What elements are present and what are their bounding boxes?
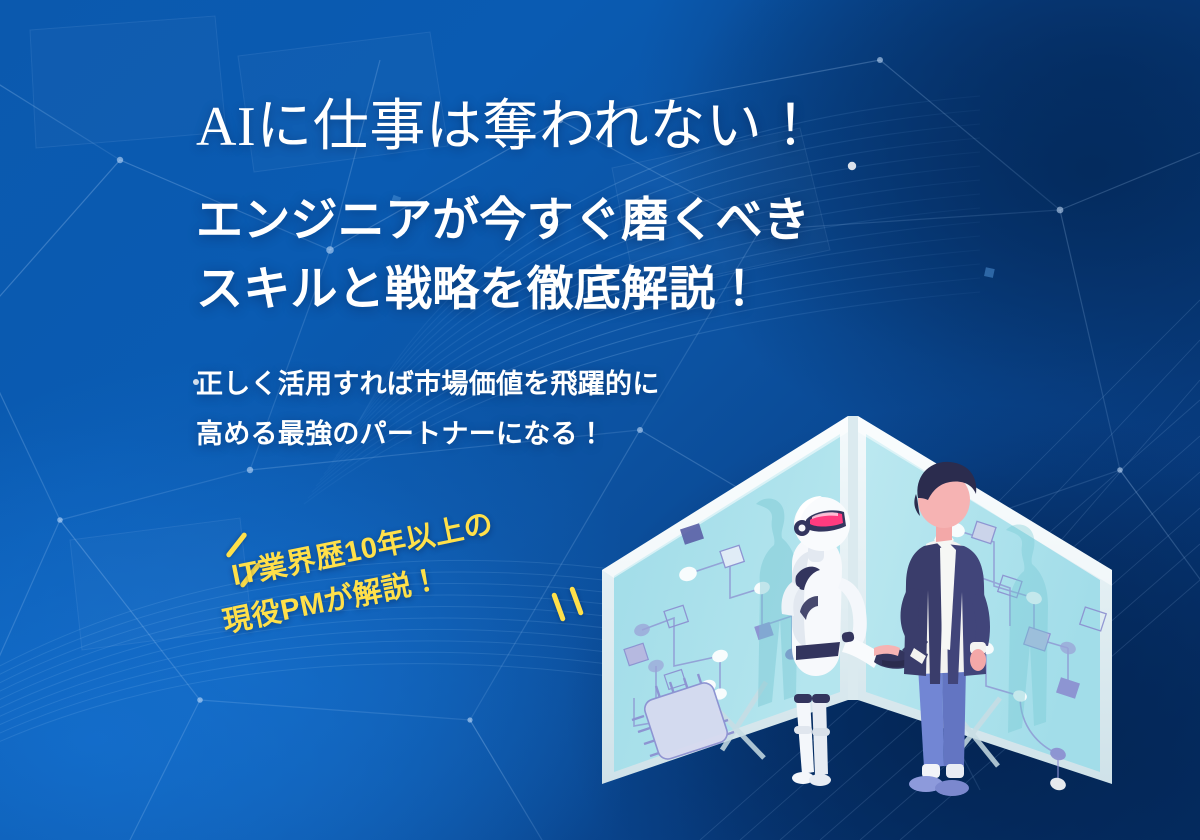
lead-line-2: 高める最強のパートナーになる！	[196, 410, 896, 460]
robot-human-handshake-illustration	[596, 398, 1200, 840]
copy-block: AIに仕事は奪われない！ エンジニアが今すぐ磨くべき スキルと戦略を徹底解説！ …	[196, 96, 896, 460]
page-title: AIに仕事は奪われない！	[196, 96, 896, 159]
lead-text: 正しく活用すれば市場価値を飛躍的に 高める最強のパートナーになる！	[196, 360, 896, 460]
subheadline: エンジニアが今すぐ磨くべき スキルと戦略を徹底解説！	[196, 185, 896, 324]
subheadline-line-2: スキルと戦略を徹底解説！	[196, 254, 896, 324]
subheadline-line-1: エンジニアが今すぐ磨くべき	[196, 185, 896, 255]
lead-line-1: 正しく活用すれば市場価値を飛躍的に	[196, 360, 896, 410]
hero-banner: AIに仕事は奪われない！ エンジニアが今すぐ磨くべき スキルと戦略を徹底解説！ …	[0, 0, 1200, 840]
